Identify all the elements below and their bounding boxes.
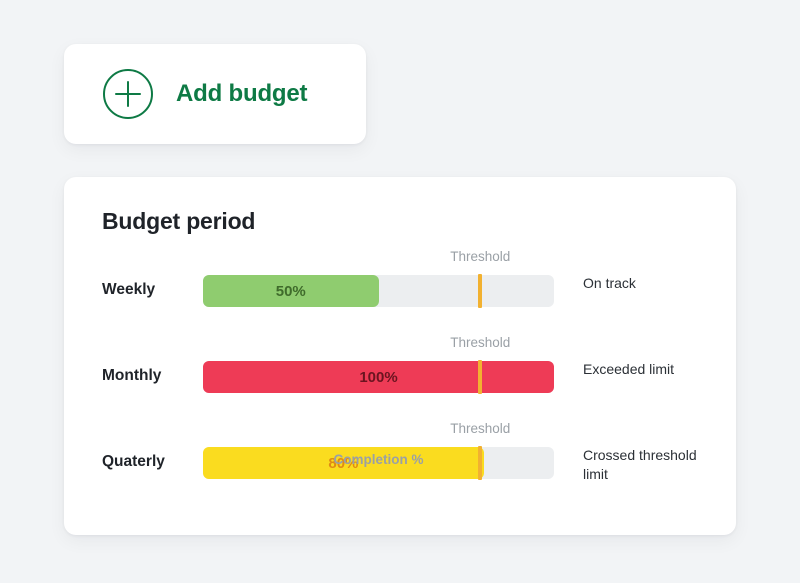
progress-fill: 100% — [203, 361, 554, 393]
status-text: Exceeded limit — [583, 360, 713, 379]
budget-row-label: Monthly — [102, 367, 202, 385]
threshold-label: Threshold — [450, 249, 510, 264]
budget-period-card: Budget period WeeklyThreshold50%On track… — [64, 177, 736, 535]
budget-row: MonthlyThreshold100%Exceeded limit — [64, 330, 736, 416]
threshold-label: Threshold — [450, 335, 510, 350]
budget-row-label: Weekly — [102, 281, 202, 299]
progress-fill: 50% — [203, 275, 379, 307]
add-budget-card[interactable]: Add budget — [64, 44, 366, 144]
status-text: On track — [583, 274, 713, 293]
progress-value: 100% — [359, 369, 397, 386]
add-budget-label: Add budget — [176, 80, 307, 108]
threshold-marker — [478, 274, 482, 308]
page-title: Budget period — [102, 208, 255, 235]
status-text: Crossed threshold limit — [583, 446, 713, 484]
progress-value: 50% — [276, 283, 306, 300]
threshold-marker — [478, 360, 482, 394]
axis-caption: Completion % — [203, 452, 554, 467]
threshold-label: Threshold — [450, 421, 510, 436]
budget-row-label: Quaterly — [102, 453, 202, 471]
budget-row: WeeklyThreshold50%On track — [64, 244, 736, 330]
progress-track: 100% — [203, 361, 554, 393]
plus-circle-icon — [102, 68, 154, 120]
progress-track: 50% — [203, 275, 554, 307]
